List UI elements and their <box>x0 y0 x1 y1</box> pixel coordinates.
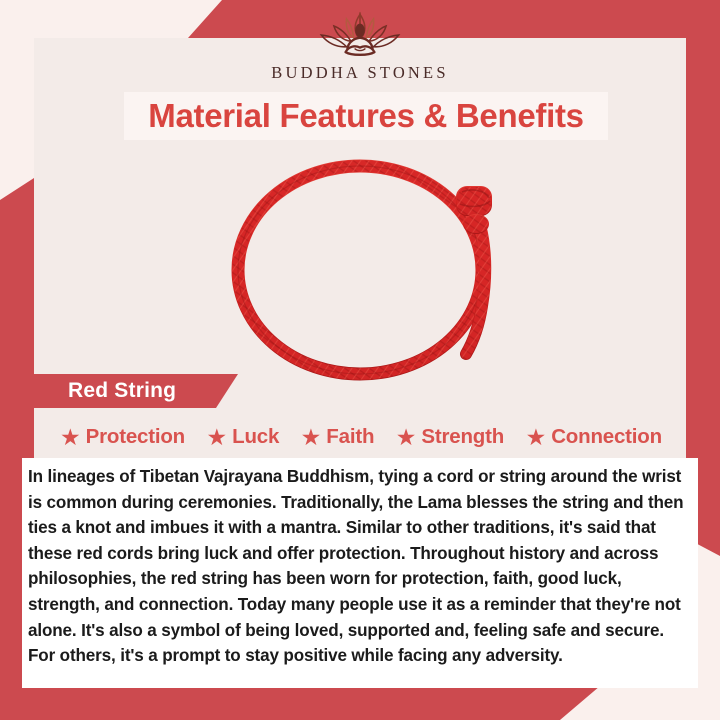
star-icon: ★ <box>526 426 547 449</box>
lotus-meditation-logo-icon <box>306 8 414 62</box>
benefit-item-strength: ★ Strength <box>396 425 504 449</box>
star-icon: ★ <box>207 426 228 449</box>
benefit-item-luck: ★ Luck <box>207 425 280 449</box>
star-icon: ★ <box>396 426 417 449</box>
infographic-page: BUDDHA STONES Material Features & Benefi… <box>0 0 720 720</box>
benefits-list: ★ Protection ★ Luck ★ Faith ★ Strength ★… <box>24 420 696 454</box>
benefit-label: Protection <box>86 425 185 449</box>
benefit-label: Strength <box>421 425 504 449</box>
frame-band-bottom <box>0 686 600 720</box>
star-icon: ★ <box>301 426 322 449</box>
benefit-label: Luck <box>232 425 279 449</box>
description-text: In lineages of Tibetan Vajrayana Buddhis… <box>28 464 684 669</box>
brand-wordmark: BUDDHA STONES <box>271 63 448 83</box>
benefit-label: Faith <box>326 425 374 449</box>
red-braided-string-bracelet-icon <box>210 150 530 390</box>
benefit-label: Connection <box>551 425 662 449</box>
benefit-item-protection: ★ Protection <box>60 425 185 449</box>
title-banner: Material Features & Benefits <box>124 92 608 140</box>
description-panel: In lineages of Tibetan Vajrayana Buddhis… <box>22 458 698 688</box>
star-icon: ★ <box>60 426 81 449</box>
page-title: Material Features & Benefits <box>148 97 583 135</box>
product-image <box>210 150 530 390</box>
product-name-label: Red String <box>22 379 176 403</box>
benefit-item-connection: ★ Connection <box>526 425 662 449</box>
brand-header: BUDDHA STONES <box>0 0 720 96</box>
product-name-tag: Red String <box>22 374 238 408</box>
benefit-item-faith: ★ Faith <box>301 425 375 449</box>
